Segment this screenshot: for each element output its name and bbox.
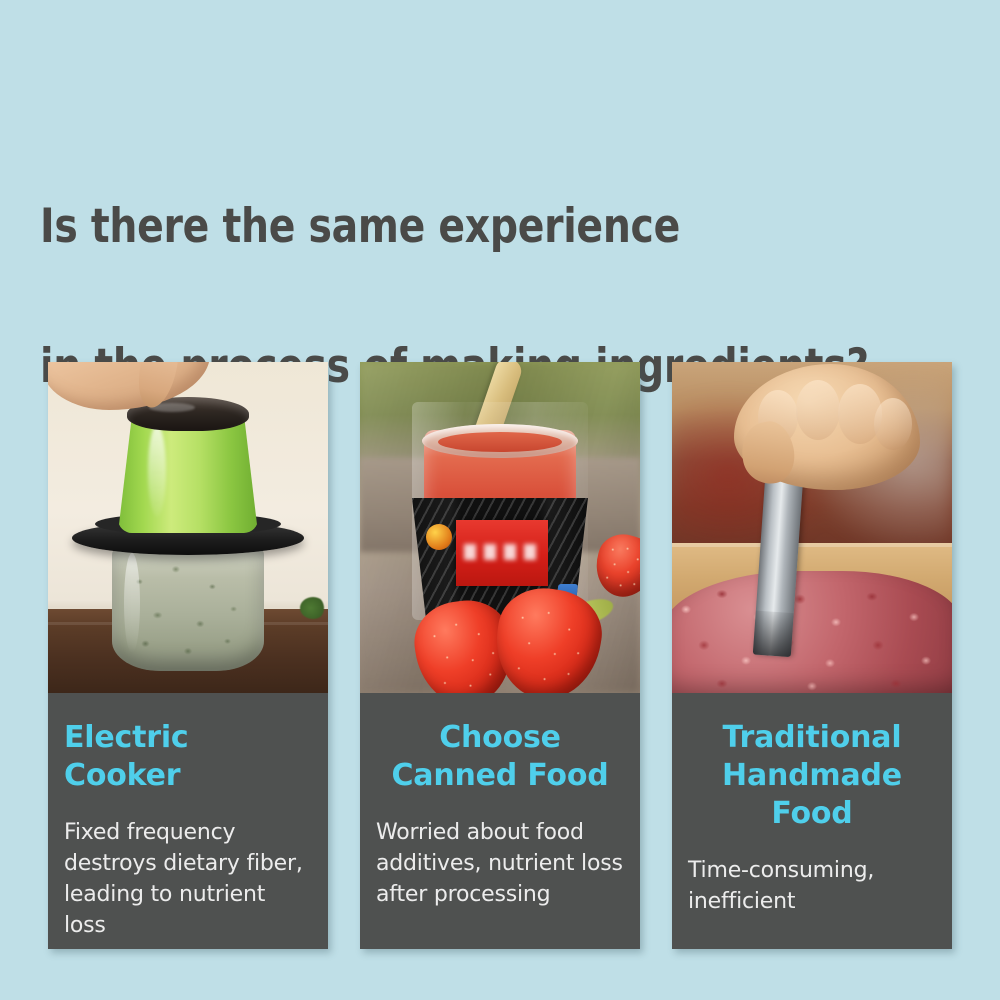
chopper-glass-bowl [112,547,264,671]
pain-point-card-electric-cooker[interactable]: Electric Cooker Fixed frequency destroys… [48,362,328,949]
promo-banner: Is there the same experience in the proc… [0,0,1000,1000]
headline-line-1: Is there the same experience [40,192,896,262]
card-title: Electric Cooker [64,719,312,795]
label-gold-badge-icon [426,524,452,550]
card-title: Choose Canned Food [376,719,624,795]
knuckle [796,380,840,440]
label-red-block [456,520,548,586]
electric-cooker-caption: Electric Cooker Fixed frequency destroys… [48,693,328,949]
card-title: Traditional Handmade Food [688,719,936,833]
handmade-food-caption: Traditional Handmade Food Time-consuming… [672,693,952,949]
canned-food-photo [360,362,640,693]
herb-garnish [300,597,326,619]
pain-point-card-canned-food[interactable]: Choose Canned Food Worried about food ad… [360,362,640,949]
jam-jar [412,402,588,620]
chopper-green-body [118,415,258,533]
canned-food-caption: Choose Canned Food Worried about food ad… [360,693,640,949]
knuckle [874,398,912,450]
green-body-highlight [148,425,166,517]
handmade-food-photo [672,362,952,693]
minced-meat [672,571,952,693]
card-body-text: Worried about food additives, nutrient l… [376,817,624,910]
card-body-text: Fixed frequency destroys dietary fiber, … [64,817,312,941]
pain-point-card-list: Electric Cooker Fixed frequency destroys… [48,362,952,949]
electric-cooker-photo [48,362,328,693]
blade-edge [753,611,794,658]
card-body-text: Time-consuming, inefficient [688,855,936,917]
pain-point-card-handmade-food[interactable]: Traditional Handmade Food Time-consuming… [672,362,952,949]
bowl-highlight [124,553,140,653]
jam-surface [438,432,562,452]
